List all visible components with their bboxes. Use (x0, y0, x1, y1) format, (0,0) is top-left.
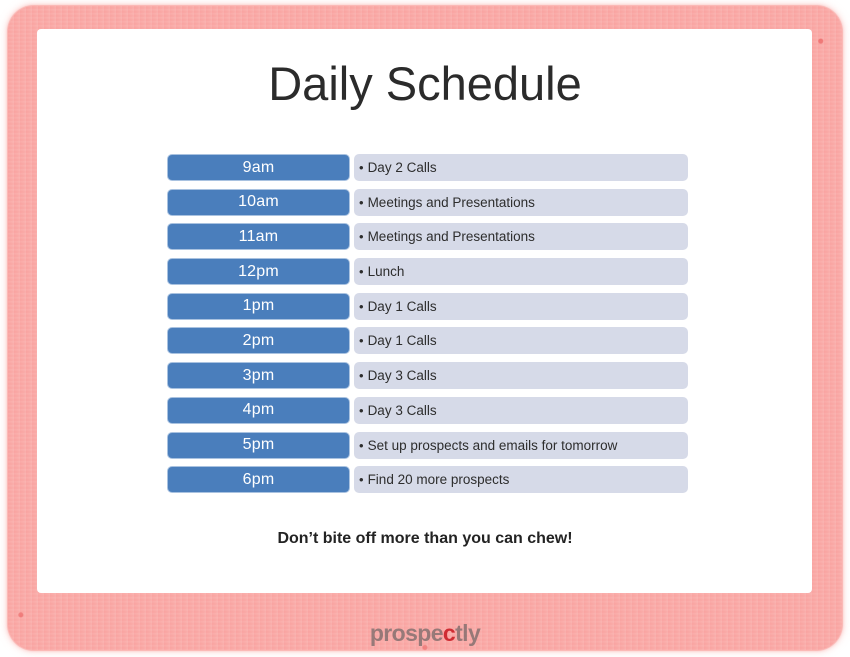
task-label: Day 1 Calls (368, 299, 437, 314)
schedule-row: 11am•Meetings and Presentations (167, 223, 688, 250)
schedule-row: 1pm•Day 1 Calls (167, 293, 688, 320)
bullet-icon: • (359, 300, 364, 313)
task-label: Meetings and Presentations (368, 195, 535, 210)
task-cell: •Day 3 Calls (354, 397, 688, 424)
task-cell: •Meetings and Presentations (354, 189, 688, 216)
slide-canvas: Daily Schedule 9am•Day 2 Calls10am•Meeti… (0, 0, 850, 657)
schedule-row: 5pm•Set up prospects and emails for tomo… (167, 432, 688, 459)
task-cell: •Meetings and Presentations (354, 223, 688, 250)
bullet-icon: • (359, 196, 364, 209)
task-cell: •Lunch (354, 258, 688, 285)
bullet-icon: • (359, 473, 364, 486)
time-cell: 10am (167, 189, 350, 216)
schedule-row: 6pm•Find 20 more prospects (167, 466, 688, 493)
task-cell: •Day 1 Calls (354, 327, 688, 354)
task-cell: •Set up prospects and emails for tomorro… (354, 432, 688, 459)
time-cell: 5pm (167, 432, 350, 459)
bullet-icon: • (359, 161, 364, 174)
bullet-icon: • (359, 230, 364, 243)
schedule-row: 9am•Day 2 Calls (167, 154, 688, 181)
bullet-icon: • (359, 334, 364, 347)
tagline-text: Don’t bite off more than you can chew! (0, 530, 850, 548)
task-cell: •Day 2 Calls (354, 154, 688, 181)
schedule-list: 9am•Day 2 Calls10am•Meetings and Present… (167, 154, 688, 501)
page-title: Daily Schedule (0, 58, 850, 110)
schedule-row: 12pm•Lunch (167, 258, 688, 285)
task-label: Day 3 Calls (368, 368, 437, 383)
schedule-row: 10am•Meetings and Presentations (167, 189, 688, 216)
schedule-row: 3pm•Day 3 Calls (167, 362, 688, 389)
schedule-row: 2pm•Day 1 Calls (167, 327, 688, 354)
time-cell: 3pm (167, 362, 350, 389)
time-cell: 9am (167, 154, 350, 181)
logo-accent-letter: c (443, 620, 455, 646)
task-label: Meetings and Presentations (368, 229, 535, 244)
task-label: Day 1 Calls (368, 333, 437, 348)
logo-part-two: tly (455, 620, 480, 646)
task-cell: •Day 3 Calls (354, 362, 688, 389)
task-label: Lunch (368, 264, 405, 279)
task-label: Day 3 Calls (368, 403, 437, 418)
task-label: Set up prospects and emails for tomorrow (368, 438, 618, 453)
time-cell: 12pm (167, 258, 350, 285)
task-cell: •Day 1 Calls (354, 293, 688, 320)
task-label: Find 20 more prospects (368, 472, 510, 487)
task-label: Day 2 Calls (368, 160, 437, 175)
prospectly-logo: prospectly (0, 620, 850, 647)
bullet-icon: • (359, 369, 364, 382)
task-cell: •Find 20 more prospects (354, 466, 688, 493)
bullet-icon: • (359, 404, 364, 417)
schedule-row: 4pm•Day 3 Calls (167, 397, 688, 424)
time-cell: 1pm (167, 293, 350, 320)
bullet-icon: • (359, 265, 364, 278)
time-cell: 2pm (167, 327, 350, 354)
time-cell: 11am (167, 223, 350, 250)
logo-part-one: prospe (370, 620, 443, 646)
time-cell: 6pm (167, 466, 350, 493)
time-cell: 4pm (167, 397, 350, 424)
bullet-icon: • (359, 439, 364, 452)
